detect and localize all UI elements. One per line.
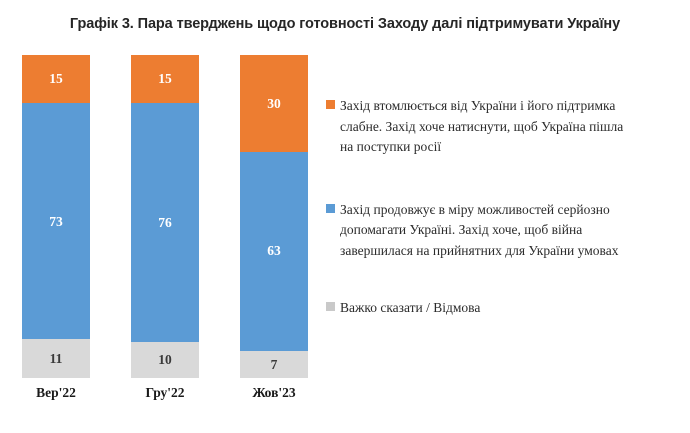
legend-item-orange[interactable]: Захід втомлюється від України і його під… — [326, 96, 682, 158]
stacked-bar-chart: Графік 3. Пара тверджень щодо готовності… — [0, 0, 690, 433]
category-label-ver22: Вер'22 — [22, 385, 90, 401]
bar-value-label: 10 — [158, 353, 172, 367]
bar-value-label: 30 — [267, 97, 281, 111]
legend-label: Захід втомлюється від України і його під… — [340, 96, 628, 158]
bar-stack: 15 76 10 — [131, 55, 199, 378]
category-label-zhov23: Жов'23 — [240, 385, 308, 401]
legend-swatch-blue-icon — [326, 204, 335, 213]
bar-segment-gray[interactable]: 7 — [240, 351, 308, 378]
bar-stack: 30 63 7 — [240, 55, 308, 378]
bar-value-label: 15 — [158, 72, 172, 86]
bar-segment-orange[interactable]: 15 — [131, 55, 199, 103]
legend-swatch-orange-icon — [326, 100, 335, 109]
bar-group-zhov23: 30 63 7 Жов'23 — [240, 55, 308, 378]
bar-group-ver22: 15 73 11 Вер'22 — [22, 55, 90, 378]
bar-segment-orange[interactable]: 15 — [22, 55, 90, 103]
plot-area: 15 73 11 Вер'22 15 76 10 — [0, 55, 320, 433]
chart-legend: Захід втомлюється від України і його під… — [326, 96, 682, 319]
bar-segment-blue[interactable]: 73 — [22, 103, 90, 339]
bar-value-label: 73 — [49, 215, 63, 229]
bar-value-label: 15 — [49, 72, 63, 86]
legend-label: Захід продовжує в міру можливостей серйо… — [340, 200, 628, 262]
legend-swatch-gray-icon — [326, 302, 335, 311]
bar-value-label: 7 — [271, 358, 278, 372]
bar-segment-blue[interactable]: 76 — [131, 103, 199, 342]
bar-stack: 15 73 11 — [22, 55, 90, 378]
legend-item-gray[interactable]: Важко сказати / Відмова — [326, 298, 682, 319]
bar-value-label: 63 — [267, 244, 281, 258]
bar-value-label: 76 — [158, 216, 172, 230]
bar-segment-orange[interactable]: 30 — [240, 55, 308, 152]
bar-segment-gray[interactable]: 10 — [131, 342, 199, 378]
bar-segment-gray[interactable]: 11 — [22, 339, 90, 378]
legend-label: Важко сказати / Відмова — [340, 298, 480, 319]
bar-group-gru22: 15 76 10 Гру'22 — [131, 55, 199, 378]
bar-value-label: 11 — [50, 352, 63, 366]
bar-segment-blue[interactable]: 63 — [240, 152, 308, 351]
chart-title: Графік 3. Пара тверджень щодо готовності… — [0, 16, 690, 32]
category-label-gru22: Гру'22 — [131, 385, 199, 401]
legend-item-blue[interactable]: Захід продовжує в міру можливостей серйо… — [326, 200, 682, 262]
